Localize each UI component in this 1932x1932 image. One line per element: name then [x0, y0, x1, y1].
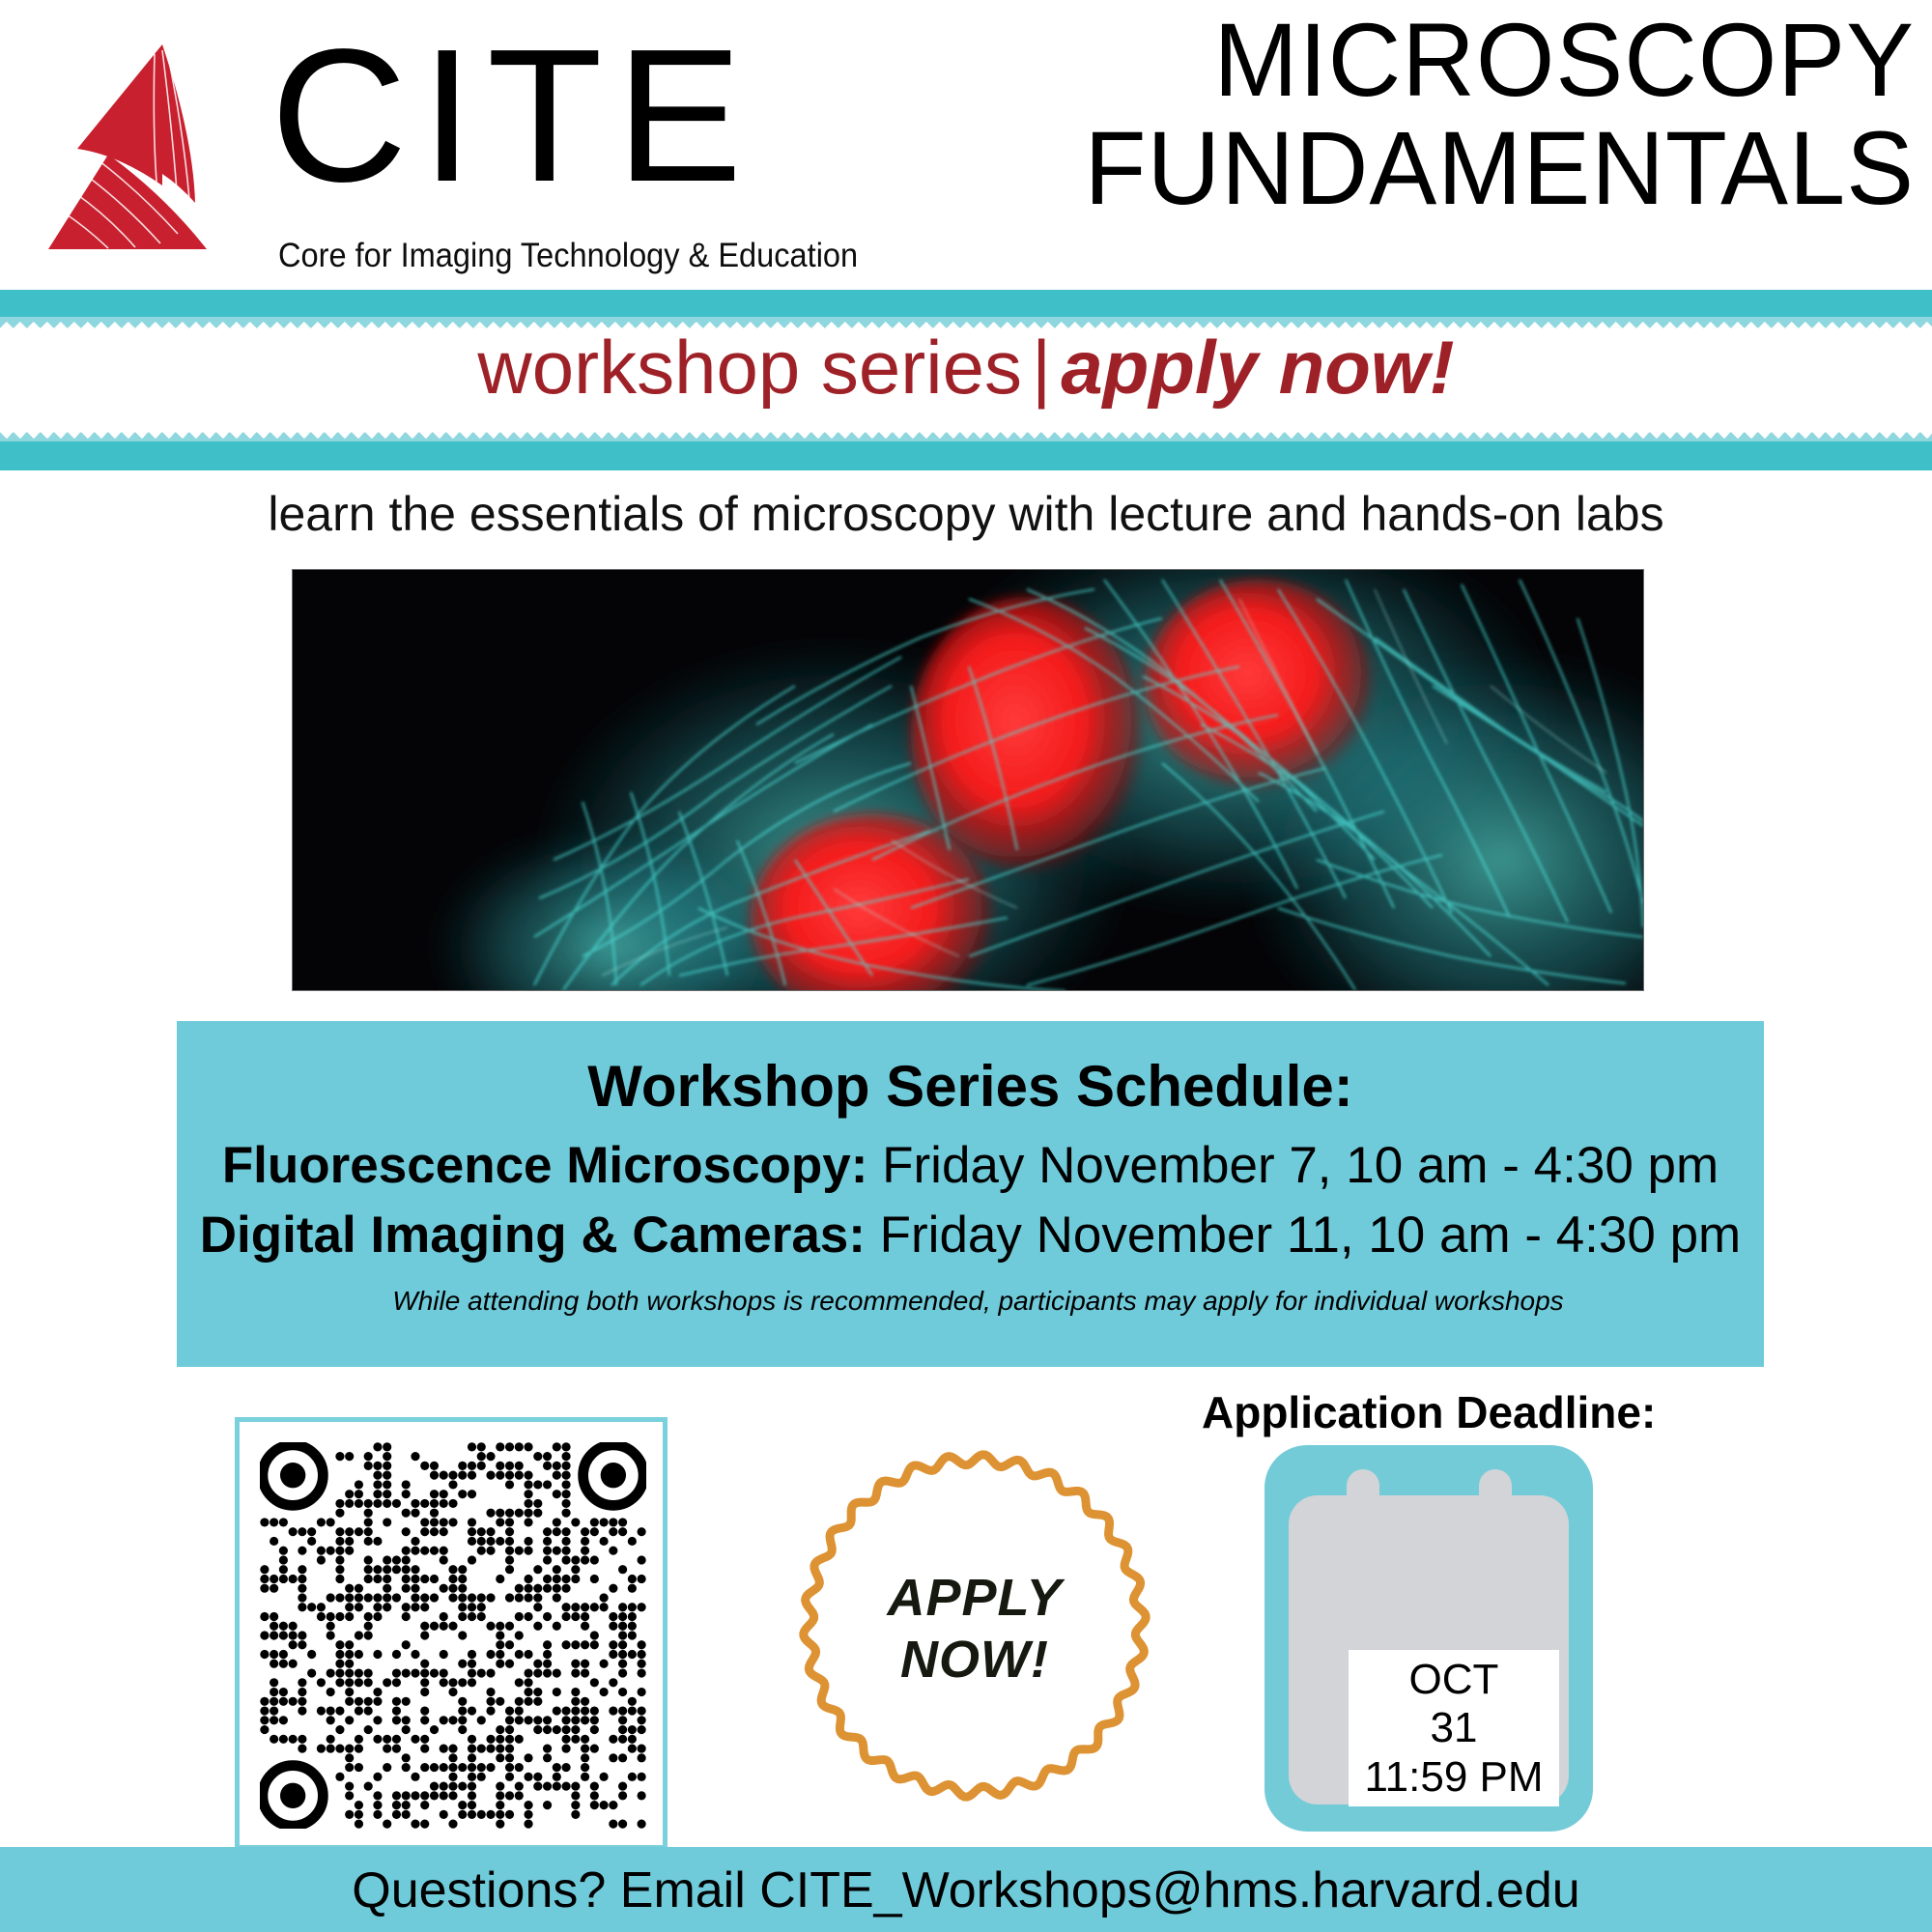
- schedule-row-label: Fluorescence Microscopy:: [222, 1137, 868, 1194]
- schedule-row-value: Friday November 7, 10 am - 4:30 pm: [882, 1137, 1719, 1194]
- micrograph-image: [292, 569, 1644, 991]
- schedule-row-label: Digital Imaging & Cameras:: [200, 1207, 866, 1264]
- application-qr-code[interactable]: [235, 1417, 668, 1850]
- zigzag-band-bottom: [0, 411, 1932, 470]
- banner-text-italic: apply now!: [1061, 325, 1454, 410]
- schedule-row: Digital Imaging & Cameras: Friday Novemb…: [177, 1205, 1764, 1266]
- logo-tagline: Core for Imaging Technology & Education: [278, 238, 858, 274]
- title-line-1: MICROSCOPY: [968, 6, 1915, 114]
- apply-now-line-2: NOW!: [798, 1629, 1151, 1690]
- calendar-icon: OCT 31 11:59 PM: [1264, 1445, 1593, 1832]
- band-solid-bottom: [0, 441, 1932, 470]
- poster-header: CITE Core for Imaging Technology & Educa…: [0, 0, 1932, 290]
- cite-logo: CITE Core for Imaging Technology & Educa…: [39, 17, 927, 273]
- apply-now-label: APPLY NOW!: [798, 1567, 1151, 1690]
- schedule-note: While attending both workshops is recomm…: [177, 1284, 1764, 1319]
- logo-wordmark: CITE: [270, 21, 755, 211]
- band-solid-top: [0, 290, 1932, 319]
- apply-now-line-1: APPLY: [798, 1567, 1151, 1629]
- subtitle-tagline: learn the essentials of microscopy with …: [0, 485, 1932, 543]
- banner-separator: |: [1022, 325, 1061, 410]
- banner-text-plain: workshop series: [477, 325, 1022, 410]
- footer-bar: Questions? Email CITE_Workshops@hms.harv…: [0, 1847, 1932, 1932]
- calendar-body: OCT 31 11:59 PM: [1289, 1495, 1569, 1804]
- contact-email-text: Questions? Email CITE_Workshops@hms.harv…: [0, 1861, 1932, 1920]
- schedule-box: Workshop Series Schedule: Fluorescence M…: [177, 1021, 1764, 1367]
- banner-text: workshop series|apply now!: [0, 321, 1932, 413]
- schedule-title: Workshop Series Schedule:: [177, 1052, 1764, 1122]
- deadline-time: 11:59 PM: [1349, 1752, 1559, 1803]
- deadline-day: 31: [1349, 1704, 1559, 1752]
- deadline-month: OCT: [1349, 1656, 1559, 1704]
- apply-now-badge[interactable]: APPLY NOW!: [798, 1449, 1151, 1803]
- micrograph-svg: [293, 570, 1644, 991]
- title-line-2: FUNDAMENTALS: [968, 114, 1915, 222]
- cite-triangle-logo-icon: [48, 41, 251, 253]
- page-title: MICROSCOPY FUNDAMENTALS: [939, 6, 1915, 222]
- schedule-row: Fluorescence Microscopy: Friday November…: [177, 1135, 1764, 1197]
- qr-code-icon[interactable]: [260, 1442, 646, 1829]
- band-teeth-bottom: [0, 411, 1932, 443]
- schedule-row-value: Friday November 11, 10 am - 4:30 pm: [880, 1207, 1742, 1264]
- calendar-page: OCT 31 11:59 PM: [1349, 1650, 1559, 1806]
- deadline-label: Application Deadline:: [1202, 1385, 1656, 1439]
